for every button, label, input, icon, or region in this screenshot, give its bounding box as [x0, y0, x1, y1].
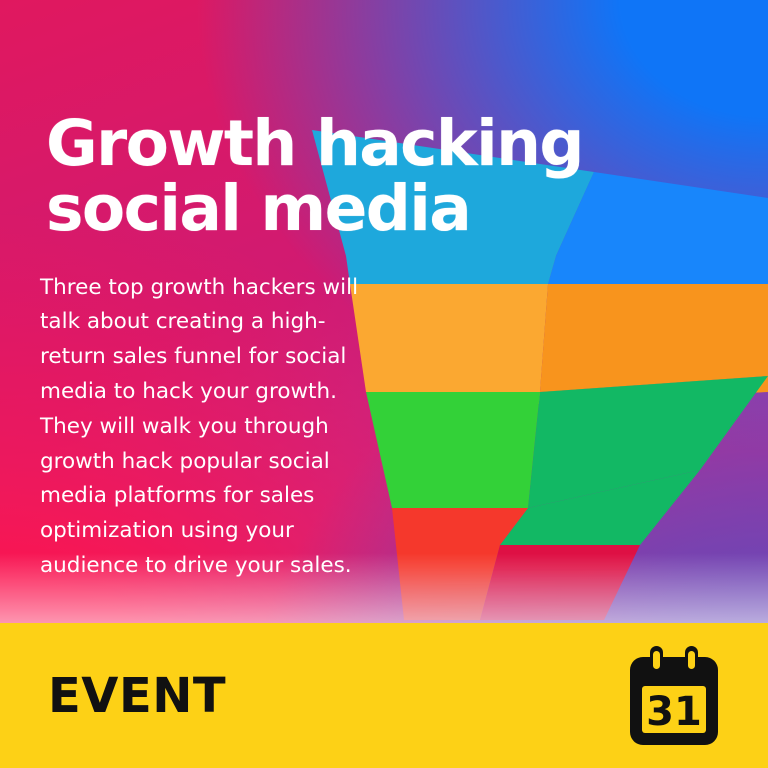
- calendar-icon: 31: [626, 646, 722, 746]
- description-text: Three top growth hackers will talk about…: [40, 271, 370, 584]
- calendar-day-number: 31: [646, 689, 702, 735]
- event-label: EVENT: [48, 672, 226, 720]
- footer-bar: EVENT 31: [0, 623, 768, 768]
- poster-canvas: Growth hacking social media Three top gr…: [0, 0, 768, 768]
- page-title: Growth hacking social media: [46, 112, 686, 242]
